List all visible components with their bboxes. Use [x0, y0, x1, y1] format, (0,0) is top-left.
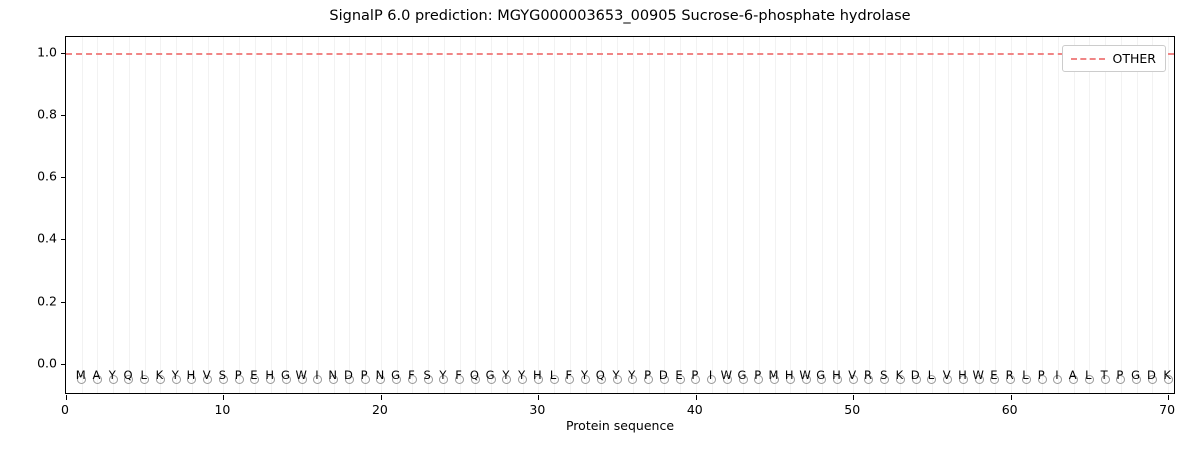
- gridline: [885, 37, 886, 393]
- residue-letter: P: [691, 370, 698, 382]
- gridline: [460, 37, 461, 393]
- residue-letter: K: [1163, 370, 1171, 382]
- y-tick-label: 0.0: [37, 355, 57, 370]
- x-tick: [66, 395, 67, 400]
- legend-swatch-other: [1071, 58, 1105, 60]
- residue-letter: D: [911, 370, 920, 382]
- gridline: [334, 37, 335, 393]
- gridline: [570, 37, 571, 393]
- y-tick-label: 0.8: [37, 106, 57, 121]
- x-tick-label: 10: [214, 402, 230, 417]
- gridline: [1058, 37, 1059, 393]
- gridline: [523, 37, 524, 393]
- residue-letter: R: [864, 370, 872, 382]
- gridline: [271, 37, 272, 393]
- gridline: [806, 37, 807, 393]
- residue-letter: P: [754, 370, 761, 382]
- gridline: [712, 37, 713, 393]
- residue-letter: P: [1038, 370, 1045, 382]
- residue-letter: W: [721, 370, 732, 382]
- legend-label-other: OTHER: [1113, 51, 1156, 66]
- gridline: [1168, 37, 1169, 393]
- residue-letter: E: [675, 370, 682, 382]
- gridline: [208, 37, 209, 393]
- residue-letter: Y: [581, 370, 588, 382]
- x-tick-label: 70: [1159, 402, 1175, 417]
- residue-letter: I: [315, 370, 318, 382]
- residue-letter: H: [533, 370, 542, 382]
- gridline: [381, 37, 382, 393]
- y-tick-label: 1.0: [37, 44, 57, 59]
- residue-letter: G: [391, 370, 400, 382]
- residue-letter: W: [973, 370, 984, 382]
- residue-letter: R: [1006, 370, 1014, 382]
- residue-letter: M: [769, 370, 779, 382]
- residue-letter: Q: [470, 370, 479, 382]
- residue-letter: L: [1085, 370, 1091, 382]
- residue-letter: Y: [502, 370, 509, 382]
- residue-letter: D: [659, 370, 668, 382]
- residue-letter: S: [880, 370, 887, 382]
- gridline: [916, 37, 917, 393]
- residue-letter: Y: [518, 370, 525, 382]
- y-tick: [61, 302, 66, 303]
- gridline: [743, 37, 744, 393]
- gridline: [837, 37, 838, 393]
- gridline: [554, 37, 555, 393]
- y-tick-label: 0.2: [37, 293, 57, 308]
- gridline: [617, 37, 618, 393]
- x-tick-label: 30: [529, 402, 545, 417]
- residue-letter: D: [1147, 370, 1156, 382]
- residue-letter: A: [93, 370, 101, 382]
- x-tick: [381, 395, 382, 400]
- residue-letter: W: [799, 370, 810, 382]
- gridline: [491, 37, 492, 393]
- residue-letter: F: [566, 370, 573, 382]
- gridline: [775, 37, 776, 393]
- residue-letter: P: [1116, 370, 1123, 382]
- gridline: [145, 37, 146, 393]
- gridline: [900, 37, 901, 393]
- residue-letter: A: [1069, 370, 1077, 382]
- gridline: [696, 37, 697, 393]
- residue-letter: D: [344, 370, 353, 382]
- residue-letter: H: [187, 370, 196, 382]
- residue-letter: Y: [172, 370, 179, 382]
- gridline: [1121, 37, 1122, 393]
- gridline: [365, 37, 366, 393]
- residue-letter: N: [328, 370, 337, 382]
- x-tick: [696, 395, 697, 400]
- residue-letter: V: [943, 370, 951, 382]
- gridline: [932, 37, 933, 393]
- residue-letter: P: [644, 370, 651, 382]
- residue-letter: K: [156, 370, 164, 382]
- gridline: [727, 37, 728, 393]
- residue-letter: P: [361, 370, 368, 382]
- residue-letter: I: [1055, 370, 1058, 382]
- gridline: [1152, 37, 1153, 393]
- gridline: [948, 37, 949, 393]
- residue-letter: G: [816, 370, 825, 382]
- gridline: [192, 37, 193, 393]
- residue-letter: Q: [123, 370, 132, 382]
- gridline: [995, 37, 996, 393]
- gridline: [255, 37, 256, 393]
- gridline: [82, 37, 83, 393]
- residue-letter: L: [141, 370, 147, 382]
- x-tick: [1011, 395, 1012, 400]
- residue-letter: L: [550, 370, 556, 382]
- residue-letter: G: [738, 370, 747, 382]
- gridline: [302, 37, 303, 393]
- residue-letter: S: [423, 370, 430, 382]
- signalp-prediction-figure: SignalP 6.0 prediction: MGYG000003653_00…: [0, 0, 1200, 450]
- gridline: [869, 37, 870, 393]
- residue-letter: Y: [439, 370, 446, 382]
- residue-letter: Y: [628, 370, 635, 382]
- gridline: [507, 37, 508, 393]
- x-tick: [853, 395, 854, 400]
- residue-letter: H: [832, 370, 841, 382]
- y-tick: [61, 115, 66, 116]
- residue-letter: Y: [613, 370, 620, 382]
- gridline: [318, 37, 319, 393]
- gridline: [822, 37, 823, 393]
- gridline: [586, 37, 587, 393]
- gridline: [239, 37, 240, 393]
- gridline: [349, 37, 350, 393]
- plot-inner: [66, 37, 1174, 393]
- residue-letter: V: [848, 370, 856, 382]
- gridline: [1137, 37, 1138, 393]
- x-tick-label: 40: [687, 402, 703, 417]
- gridline: [538, 37, 539, 393]
- gridline: [428, 37, 429, 393]
- residue-letter: V: [203, 370, 211, 382]
- gridline: [1011, 37, 1012, 393]
- gridline: [853, 37, 854, 393]
- gridline: [412, 37, 413, 393]
- gridline: [979, 37, 980, 393]
- residue-letter: H: [958, 370, 967, 382]
- residue-letter: S: [219, 370, 226, 382]
- y-tick: [61, 364, 66, 365]
- x-tick: [538, 395, 539, 400]
- other-probability-line: [66, 53, 1174, 55]
- residue-letter: G: [486, 370, 495, 382]
- gridline: [664, 37, 665, 393]
- gridline: [601, 37, 602, 393]
- residue-letter: L: [1022, 370, 1028, 382]
- y-tick: [61, 53, 66, 54]
- gridline: [97, 37, 98, 393]
- residue-letter: K: [896, 370, 904, 382]
- residue-letter: Q: [596, 370, 605, 382]
- residue-letter: H: [265, 370, 274, 382]
- x-tick: [1168, 395, 1169, 400]
- residue-letter: L: [928, 370, 934, 382]
- gridline: [963, 37, 964, 393]
- gridline: [223, 37, 224, 393]
- residue-letter: Y: [109, 370, 116, 382]
- gridline: [633, 37, 634, 393]
- gridline: [397, 37, 398, 393]
- residue-letter: E: [250, 370, 257, 382]
- x-tick-label: 60: [1002, 402, 1018, 417]
- y-tick: [61, 177, 66, 178]
- gridline: [1074, 37, 1075, 393]
- gridline: [790, 37, 791, 393]
- residue-letter: M: [76, 370, 86, 382]
- gridline: [475, 37, 476, 393]
- residue-letter: I: [709, 370, 712, 382]
- x-tick: [223, 395, 224, 400]
- residue-letter: E: [990, 370, 997, 382]
- gridline: [1105, 37, 1106, 393]
- residue-letter: N: [376, 370, 385, 382]
- residue-letter: P: [235, 370, 242, 382]
- gridline: [680, 37, 681, 393]
- gridline: [129, 37, 130, 393]
- y-tick: [61, 239, 66, 240]
- gridline: [1042, 37, 1043, 393]
- x-tick-label: 50: [844, 402, 860, 417]
- gridline: [176, 37, 177, 393]
- gridline: [1089, 37, 1090, 393]
- plot-area: OTHER: [65, 36, 1175, 394]
- y-tick-label: 0.6: [37, 169, 57, 184]
- gridline: [1026, 37, 1027, 393]
- x-tick-label: 20: [372, 402, 388, 417]
- residue-letter: F: [408, 370, 415, 382]
- gridline: [649, 37, 650, 393]
- gridline: [444, 37, 445, 393]
- gridline: [286, 37, 287, 393]
- residue-letter: H: [785, 370, 794, 382]
- residue-letter: G: [281, 370, 290, 382]
- x-axis-title: Protein sequence: [65, 418, 1175, 433]
- gridline: [113, 37, 114, 393]
- residue-letter: W: [295, 370, 306, 382]
- residue-letter: T: [1101, 370, 1108, 382]
- gridline: [759, 37, 760, 393]
- gridline: [160, 37, 161, 393]
- residue-letter: G: [1131, 370, 1140, 382]
- legend[interactable]: OTHER: [1062, 45, 1166, 72]
- x-tick-label: 0: [61, 402, 69, 417]
- residue-letter: F: [455, 370, 462, 382]
- y-tick-label: 0.4: [37, 231, 57, 246]
